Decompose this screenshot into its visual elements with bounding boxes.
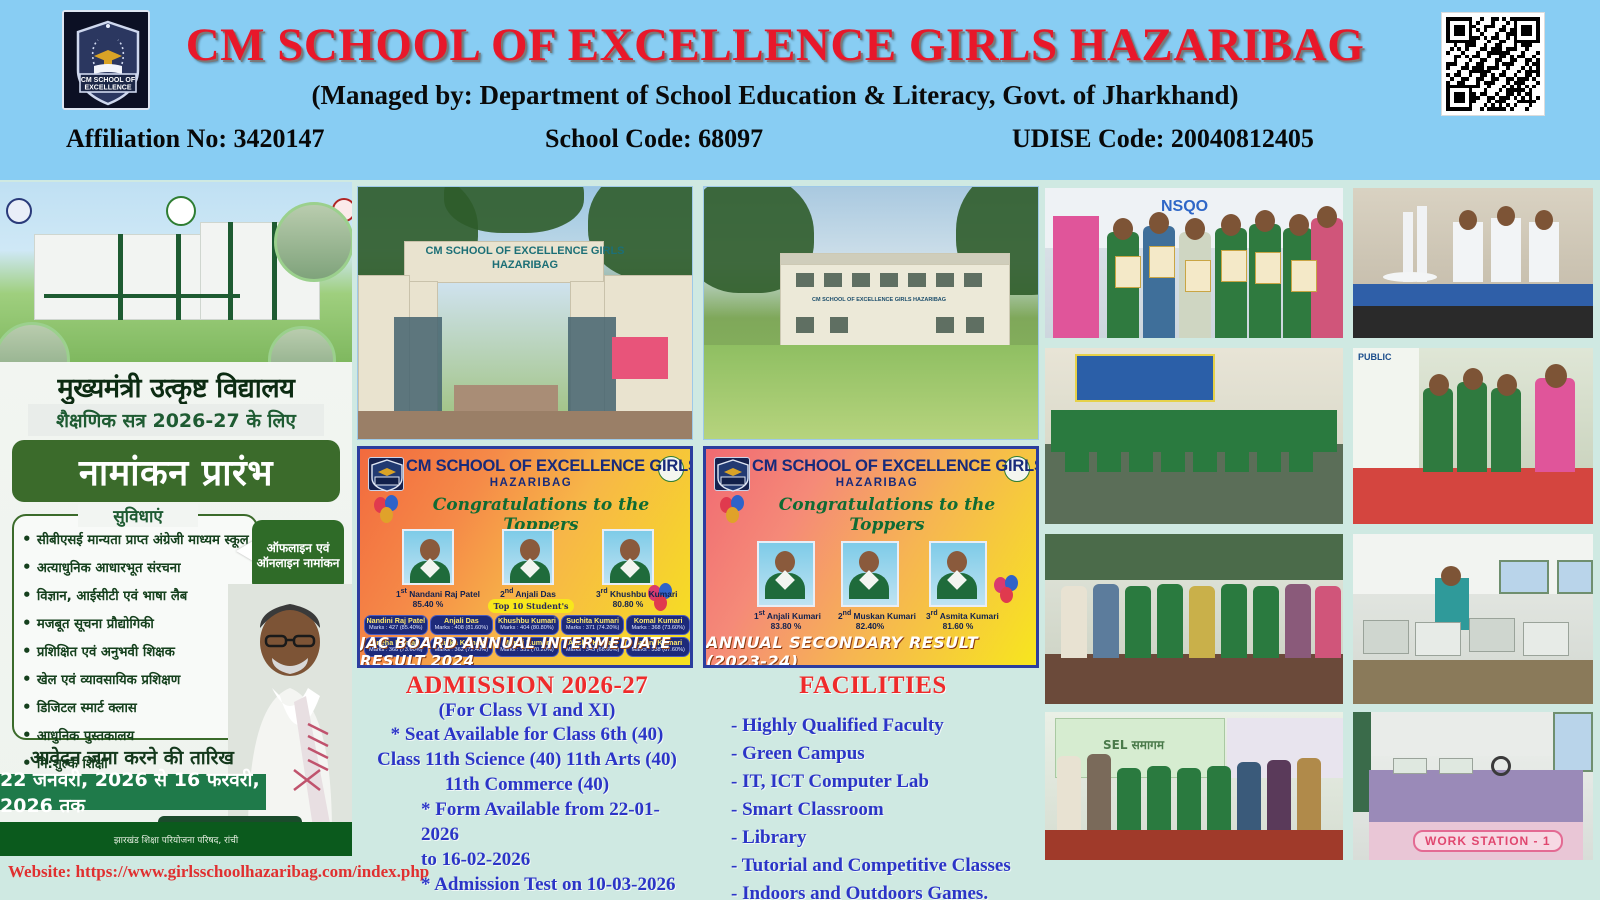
top-ten-student-name: Khushbu Kumari — [496, 617, 558, 625]
topper-card: 3rd Khushbu Kumari 80.80 % — [596, 529, 660, 609]
balloons-icon — [990, 575, 1030, 615]
managed-by-text: (Managed by: Department of School Educat… — [170, 80, 1380, 111]
school-crest-icon — [714, 457, 750, 491]
poster-session: शैक्षणिक सत्र 2026-27 के लिए — [28, 404, 324, 436]
topper-card: 1st Anjali Kumari 83.80 % — [754, 541, 818, 631]
school-emblem-icon — [6, 198, 32, 224]
school-logo: CM SCHOOL OF EXCELLENCE — [62, 10, 150, 110]
poster-enrollment-banner: नामांकन प्रारंभ — [12, 440, 340, 502]
facility-item: - Tutorial and Competitive Classes — [703, 852, 1043, 880]
topper-card: 1st Nandani Raj Patel 85.40 % — [396, 529, 460, 609]
school-gate-photo: CM SCHOOL OF EXCELLENCE GIRLS HAZARIBAG — [357, 186, 693, 440]
top-ten-student-name: Nandini Raj Patel — [365, 617, 427, 625]
topper-name: Anjali Kumari — [767, 611, 821, 621]
facility-item: - Indoors and Outdoors Games. — [703, 880, 1043, 900]
poster-features-list: सीबीएसई मान्यता प्राप्त अंग्रेजी माध्यम … — [22, 526, 252, 778]
poster-features-heading: सुविधाएं — [78, 504, 198, 527]
poster-feature-item: अत्याधुनिक आधारभूत संरचना — [22, 554, 252, 582]
student-microscope-photo — [268, 326, 336, 362]
qr-code-icon[interactable] — [1441, 12, 1545, 116]
admission-heading: ADMISSION 2026-27 — [357, 672, 697, 700]
sel-samagam-photo: SEL समागम — [1045, 712, 1343, 860]
poster-feature-item: डिजिटल स्मार्ट क्लास — [22, 694, 252, 722]
congratulations-text: Congratulations to the Toppers — [756, 495, 1018, 535]
admission-subheading: (For Class VI and XI) — [357, 700, 697, 722]
workstation-label: WORK STATION - 1 — [1413, 830, 1563, 852]
result-footer-banner: ANNUAL SECONDARY RESULT (2023-24) — [706, 639, 1036, 665]
topper-name: Khushbu Kumari — [610, 589, 677, 599]
result-poster-subtitle: HAZARIBAG — [752, 477, 1002, 489]
topper-name: Nandani Raj Patel — [409, 589, 480, 599]
admission-poster: मुख्यमंत्री उत्कृष्ट विद्यालय शैक्षणिक स… — [0, 182, 352, 856]
gate-sign-line2: HAZARIBAG — [358, 259, 692, 271]
facilities-heading: FACILITIES — [703, 672, 1043, 700]
page-header: CM SCHOOL OF EXCELLENCE CM SCHOOL OF EXC… — [0, 0, 1600, 180]
result-poster-title: CM SCHOOL OF EXCELLENCE GIRLS — [406, 457, 656, 476]
top-ten-cell: Komal KumariMarks : 368 (73.60%) — [626, 615, 690, 635]
svg-text:CM SCHOOL OF: CM SCHOOL OF — [81, 77, 136, 84]
govt-emblem-icon — [166, 196, 196, 226]
poster-feature-item: विज्ञान, आईसीटी एवं भाषा लैब — [22, 582, 252, 610]
school-code: School Code: 68097 — [545, 124, 763, 154]
affiliation-number: Affiliation No: 3420147 — [66, 124, 325, 154]
topper-percent: 83.80 % — [754, 621, 818, 631]
topper-name: Asmita Kumari — [940, 611, 999, 621]
top-ten-student-name: Komal Kumari — [627, 617, 689, 625]
civics-banner-text: PUBLIC — [1358, 352, 1392, 362]
top-ten-student-name: Suchita Kumari — [562, 617, 624, 625]
topper-photo — [502, 529, 554, 585]
facilities-list: - Highly Qualified Faculty- Green Campus… — [703, 712, 1043, 900]
topper-card: 3rd Asmita Kumari 81.60 % — [926, 541, 990, 631]
poster-campus-photo — [0, 182, 352, 362]
gate-sign-line1: CM SCHOOL OF EXCELLENCE GIRLS — [358, 245, 692, 257]
building-sign: CM SCHOOL OF EXCELLENCE GIRLS HAZARIBAG — [812, 297, 946, 303]
topper-name: Muskan Kumari — [854, 611, 916, 621]
admission-line: 11th Commerce (40) — [357, 772, 697, 797]
admission-line: * Form Available from 22-01-2026 — [357, 797, 697, 847]
civics-exhibition-photo: PUBLIC — [1353, 348, 1593, 524]
school-crest-icon — [368, 457, 404, 491]
top-ten-student-name: Anjali Das — [431, 617, 493, 625]
students-assembly-photo — [1045, 348, 1343, 524]
sel-banner-text: SEL समागम — [1103, 736, 1164, 753]
facility-item: - Green Campus — [703, 740, 1043, 768]
admission-line: Class 11th Science (40) 11th Arts (40) — [357, 747, 697, 772]
admission-line: to 16-02-2026 — [357, 847, 697, 872]
top-ten-student-marks: Marks : 408 (81.60%) — [431, 625, 493, 632]
facilities-block: FACILITIES - Highly Qualified Faculty- G… — [703, 672, 1043, 900]
poster-title: मुख्यमंत्री उत्कृष्ट विद्यालय — [0, 368, 352, 405]
top-ten-student-marks: Marks : 427 (85.40%) — [365, 625, 427, 632]
poster-feature-item: सीबीएसई मान्यता प्राप्त अंग्रेजी माध्यम … — [22, 526, 252, 554]
topper-card: 2nd Muskan Kumari 82.40% — [838, 541, 902, 631]
award-ceremony-photo: NSQO — [1045, 188, 1343, 338]
topper-percent: 81.60 % — [926, 621, 990, 631]
science-lab-photo — [1353, 188, 1593, 338]
topper-percent: 80.80 % — [596, 599, 660, 609]
nsqo-banner-text: NSQO — [1161, 198, 1208, 216]
secondary-result-poster: CM SCHOOL OF EXCELLENCE GIRLS HAZARIBAG … — [703, 446, 1039, 668]
topper-name: Anjali Das — [515, 589, 556, 599]
admission-line: * Seat Available for Class 6th (40) — [357, 722, 697, 747]
svg-text:EXCELLENCE: EXCELLENCE — [84, 85, 131, 92]
top-ten-cell: Khushbu KumariMarks : 404 (80.80%) — [495, 615, 559, 635]
balloons-icon — [716, 495, 756, 535]
topper-card: 2nd Anjali Das 81.60% — [496, 529, 560, 609]
topper-percent: 82.40% — [838, 621, 902, 631]
admission-line: * Admission Test on 10-03-2026 — [357, 872, 697, 897]
top-ten-student-marks: Marks : 368 (73.60%) — [627, 625, 689, 632]
top-ten-student-marks: Marks : 371 (74.20%) — [562, 625, 624, 632]
result-footer-banner: JAC BOARD ANNUAL INTERMEDIATE RESULT 202… — [360, 639, 690, 665]
school-function-photo — [1045, 534, 1343, 704]
topper-photo — [602, 529, 654, 585]
poster-online-offline-badge: ऑफलाइन एवं ऑनलाइन नामांकन — [252, 520, 344, 592]
poster-feature-item: खेल एवं व्यावसायिक प्रशिक्षण — [22, 666, 252, 694]
poster-feature-item: मजबूत सूचना प्रौद्योगिकी — [22, 610, 252, 638]
poster-date-band: 22 जनवरी, 2026 से 16 फरवरी, 2026 तक — [0, 774, 266, 810]
poster-feature-item: प्रशिक्षित एवं अनुभवी शिक्षक — [22, 638, 252, 666]
computer-lab-photo — [1353, 534, 1593, 704]
top-ten-cell: Suchita KumariMarks : 371 (74.20%) — [561, 615, 625, 635]
topper-photo — [757, 541, 815, 607]
facility-item: - Library — [703, 824, 1043, 852]
workstation-photo: WORK STATION - 1 — [1353, 712, 1593, 860]
poster-footer-band: झारखंड शिक्षा परियोजना परिषद, रांची — [0, 822, 352, 856]
topper-photo — [841, 541, 899, 607]
intermediate-result-poster: CM SCHOOL OF EXCELLENCE GIRLS HAZARIBAG … — [357, 446, 693, 668]
topper-photo — [402, 529, 454, 585]
top-ten-label: Top 10 Student's — [488, 599, 574, 613]
top-ten-student-marks: Marks : 404 (80.80%) — [496, 625, 558, 632]
student-reading-photo — [274, 202, 352, 282]
top-ten-cell: Anjali DasMarks : 408 (81.60%) — [430, 615, 494, 635]
students-group-photo — [0, 322, 70, 362]
facility-item: - Smart Classroom — [703, 796, 1043, 824]
facility-item: - Highly Qualified Faculty — [703, 712, 1043, 740]
result-poster-title: CM SCHOOL OF EXCELLENCE GIRLS — [752, 457, 1002, 476]
topper-photo — [929, 541, 987, 607]
facility-item: - IT, ICT Computer Lab — [703, 768, 1043, 796]
top-ten-cell: Nandini Raj PatelMarks : 427 (85.40%) — [364, 615, 428, 635]
page-title: CM SCHOOL OF EXCELLENCE GIRLS HAZARIBAG — [170, 18, 1380, 72]
admission-info-block: ADMISSION 2026-27 (For Class VI and XI) … — [357, 672, 697, 900]
topper-percent: 85.40 % — [396, 599, 460, 609]
udise-code: UDISE Code: 20040812405 — [1012, 124, 1314, 154]
school-building-photo: CM SCHOOL OF EXCELLENCE GIRLS HAZARIBAG — [703, 186, 1039, 440]
result-poster-subtitle: HAZARIBAG — [406, 477, 656, 489]
